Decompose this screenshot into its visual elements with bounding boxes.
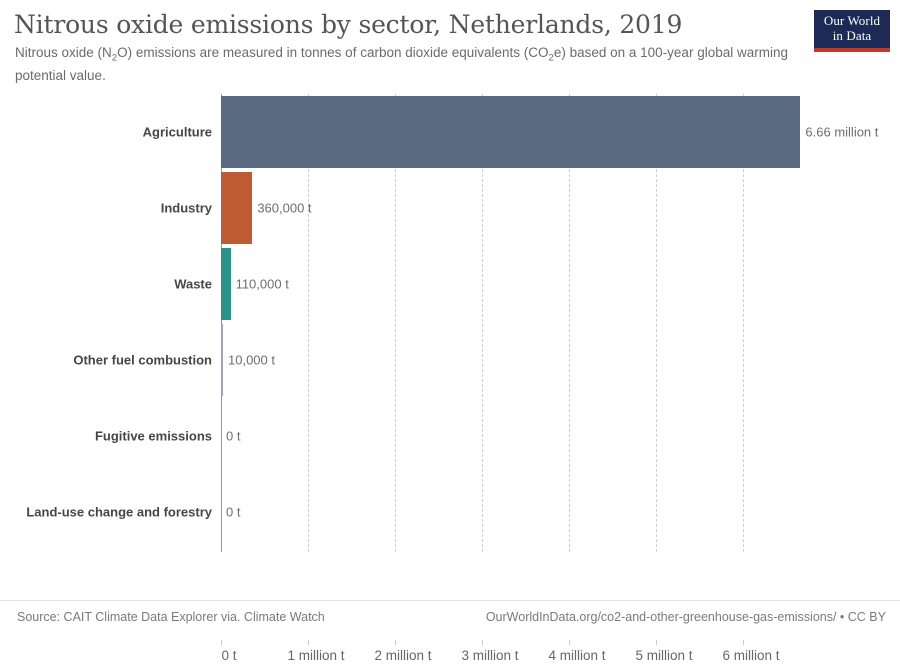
bar-row[interactable]: Other fuel combustion10,000 t xyxy=(0,322,900,398)
category-label: Industry xyxy=(0,201,212,216)
x-tick-label: 2 million t xyxy=(374,648,431,663)
x-tick-label: 1 million t xyxy=(287,648,344,663)
category-label: Land-use change and forestry xyxy=(0,505,212,520)
x-tick-label: 6 million t xyxy=(722,648,779,663)
bar-value-label: 10,000 t xyxy=(228,353,275,368)
x-tick-mark xyxy=(221,640,222,645)
footer-source-text: Source: CAIT Climate Data Explorer via. … xyxy=(17,610,325,624)
bar[interactable] xyxy=(221,172,252,244)
bar-row[interactable]: Industry360,000 t xyxy=(0,170,900,246)
x-axis: 0 t1 million t2 million t3 million t4 mi… xyxy=(0,640,900,670)
bar-row[interactable]: Land-use change and forestry0 t xyxy=(0,474,900,550)
chart-header: Nitrous oxide emissions by sector, Nethe… xyxy=(0,0,900,88)
bar-row[interactable]: Agriculture6.66 million t xyxy=(0,94,900,170)
bar-value-label: 0 t xyxy=(226,505,240,520)
x-tick-mark xyxy=(569,640,570,645)
x-tick-mark xyxy=(482,640,483,645)
x-tick-mark xyxy=(656,640,657,645)
category-label: Fugitive emissions xyxy=(0,429,212,444)
page-title: Nitrous oxide emissions by sector, Nethe… xyxy=(14,10,682,39)
chart-subtitle: Nitrous oxide (N2O) emissions are measur… xyxy=(15,44,805,84)
bar-value-label: 6.66 million t xyxy=(805,125,878,140)
bar-row[interactable]: Waste110,000 t xyxy=(0,246,900,322)
x-tick-label: 3 million t xyxy=(461,648,518,663)
footer-link-text: OurWorldInData.org/co2-and-other-greenho… xyxy=(486,610,886,624)
category-label: Agriculture xyxy=(0,125,212,140)
x-tick-label: 4 million t xyxy=(548,648,605,663)
logo-line-1: Our World xyxy=(814,13,890,28)
category-label: Other fuel combustion xyxy=(0,353,212,368)
chart-footer: Source: CAIT Climate Data Explorer via. … xyxy=(0,600,900,636)
x-tick-mark xyxy=(395,640,396,645)
subtitle-text-1: Nitrous oxide (N xyxy=(15,45,112,60)
x-tick-mark xyxy=(743,640,744,645)
bar[interactable] xyxy=(221,96,800,168)
bar-value-label: 110,000 t xyxy=(236,277,289,292)
subtitle-text-2: O) emissions are measured in tonnes of c… xyxy=(117,45,548,60)
bar-value-label: 360,000 t xyxy=(257,201,311,216)
bar-row[interactable]: Fugitive emissions0 t xyxy=(0,398,900,474)
our-world-in-data-logo[interactable]: Our World in Data xyxy=(814,10,890,52)
chart-plot-area: Agriculture6.66 million tIndustry360,000… xyxy=(0,88,900,558)
bar[interactable] xyxy=(221,324,223,396)
x-tick-mark xyxy=(308,640,309,645)
logo-line-2: in Data xyxy=(814,28,890,43)
bar-value-label: 0 t xyxy=(226,429,240,444)
category-label: Waste xyxy=(0,277,212,292)
bar[interactable] xyxy=(221,248,231,320)
x-tick-label: 5 million t xyxy=(635,648,692,663)
x-tick-label: 0 t xyxy=(221,648,236,663)
